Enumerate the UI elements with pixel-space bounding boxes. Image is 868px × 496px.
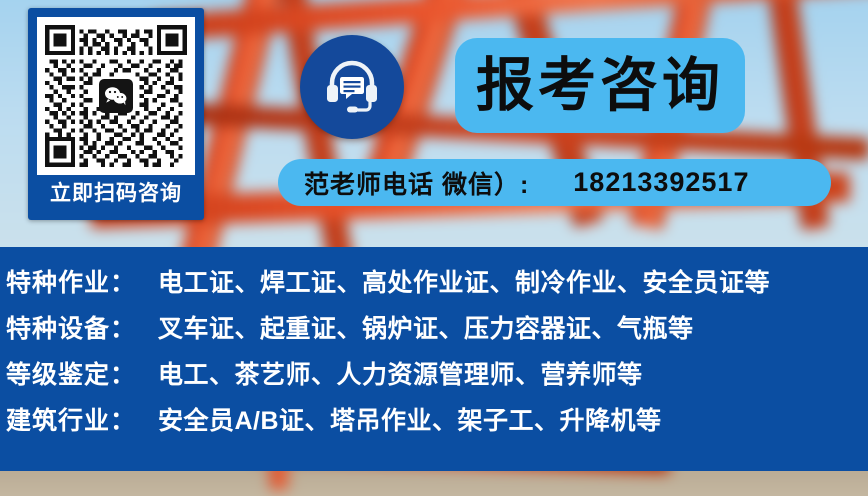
service-items-label: 电工、茶艺师、人力资源管理师、营养师等 [158,355,643,391]
qr-code-frame [37,17,195,175]
service-category-label: 建筑行业： [6,401,158,437]
wechat-glyph [104,86,128,106]
headset-support-icon[interactable] [300,35,404,139]
services-panel: 特种作业： 电工证、焊工证、高处作业证、制冷作业、安全员证等 特种设备： 叉车证… [0,247,868,471]
contact-label: 范老师电话 微信）: [304,165,529,201]
service-row: 建筑行业： 安全员A/B证、塔吊作业、架子工、升降机等 [6,401,868,447]
service-category-label: 等级鉴定： [6,355,158,391]
qr-caption: 立即扫码咨询 [28,180,204,208]
service-row: 特种作业： 电工证、焊工证、高处作业证、制冷作业、安全员证等 [6,263,868,309]
qr-code-card[interactable]: 立即扫码咨询 [28,8,204,220]
headset-glyph [320,55,384,119]
contact-phone-number[interactable]: 18213392517 [573,167,749,198]
service-category-label: 特种作业： [6,263,158,299]
wechat-icon [99,79,133,113]
service-row: 等级鉴定： 电工、茶艺师、人力资源管理师、营养师等 [6,355,868,401]
contact-badge[interactable]: 范老师电话 微信）: 18213392517 [278,159,831,206]
title-badge: 报考咨询 [455,38,745,133]
service-category-label: 特种设备： [6,309,158,345]
page-title: 报考咨询 [476,57,724,115]
service-items-label: 叉车证、起重证、锅炉证、压力容器证、气瓶等 [158,309,694,345]
promo-poster: 立即扫码咨询 报考咨询 范老师电话 微信）: 18213392517 特种作业：… [0,0,868,496]
service-row: 特种设备： 叉车证、起重证、锅炉证、压力容器证、气瓶等 [6,309,868,355]
service-items-label: 安全员A/B证、塔吊作业、架子工、升降机等 [158,401,662,437]
service-items-label: 电工证、焊工证、高处作业证、制冷作业、安全员证等 [158,263,770,299]
